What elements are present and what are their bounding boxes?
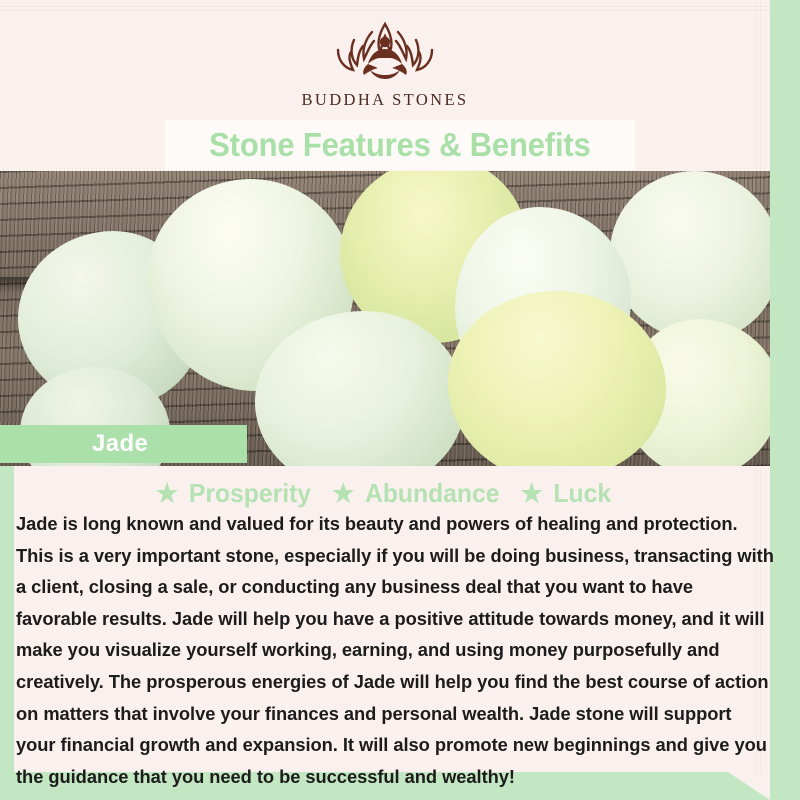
- page-hairline-top-2: [0, 10, 770, 11]
- keyword-abundance: Abundance: [365, 478, 499, 508]
- keyword-prosperity: Prosperity: [189, 478, 311, 508]
- left-accent-band: [0, 466, 14, 772]
- stone-description: Jade is long known and valued for its be…: [16, 508, 774, 792]
- keyword-luck: Luck: [553, 478, 611, 508]
- stone-info-card: BUDDHA STONES Stone Features & Benefits …: [0, 0, 800, 800]
- page-title: Stone Features & Benefits: [209, 126, 590, 164]
- star-icon: ★: [521, 478, 543, 508]
- star-icon: ★: [156, 478, 178, 508]
- star-icon: ★: [332, 478, 354, 508]
- brand-logo: BUDDHA STONES: [0, 18, 770, 110]
- stone-name-banner: Jade: [0, 425, 247, 463]
- stone-photo: [0, 171, 770, 466]
- brand-wordmark: BUDDHA STONES: [0, 90, 770, 110]
- stone-name-label: Jade: [92, 430, 148, 458]
- lotus-meditation-icon: [310, 18, 460, 84]
- keyword-row: ★ Prosperity ★ Abundance ★ Luck: [19, 478, 751, 509]
- page-hairline-top: [0, 6, 770, 7]
- section-title-banner: Stone Features & Benefits: [165, 120, 635, 170]
